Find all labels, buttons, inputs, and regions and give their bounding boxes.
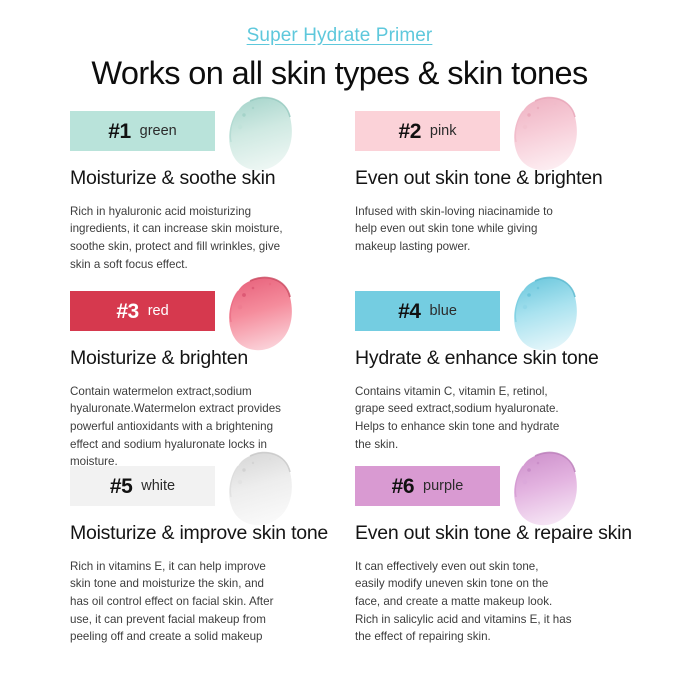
cream-smear-icon-2 <box>505 93 583 175</box>
swatch-row-2: #2 pink <box>355 111 570 153</box>
shade-name-1: green <box>140 124 177 139</box>
swatch-row-4: #4 blue <box>355 291 570 333</box>
shade-number-5: #5 <box>110 476 132 497</box>
shade-name-6: purple <box>423 479 463 494</box>
card-title-6: Even out skin tone & repaire skin <box>355 522 640 544</box>
swatch-row-1: #1 green <box>70 111 285 153</box>
shade-card-1: #1 green <box>70 111 355 291</box>
page-header: Super Hydrate Primer Works on all skin t… <box>0 0 679 91</box>
shade-label-bar-3: #3 red <box>70 291 215 331</box>
card-title-2: Even out skin tone & brighten <box>355 167 640 189</box>
shade-name-3: red <box>148 304 169 319</box>
card-body-1: Rich in hyaluronic acid moisturizing ing… <box>70 203 320 273</box>
shade-label-bar-4: #4 blue <box>355 291 500 331</box>
shade-grid: #1 green <box>0 111 679 646</box>
shade-card-5: #5 white <box>70 466 355 646</box>
card-title-5: Moisturize & improve skin tone <box>70 522 355 544</box>
shade-number-1: #1 <box>108 121 130 142</box>
page-title: Works on all skin types & skin tones <box>0 55 679 91</box>
card-title-1: Moisturize & soothe skin <box>70 167 355 189</box>
swatch-row-3: #3 red <box>70 291 285 333</box>
shade-number-2: #2 <box>399 121 421 142</box>
card-body-5: Rich in vitamins E, it can help improve … <box>70 558 320 646</box>
card-body-6: It can effectively even out skin tone, e… <box>355 558 605 646</box>
shade-name-5: white <box>141 479 175 494</box>
shade-number-4: #4 <box>398 301 420 322</box>
card-title-4: Hydrate & enhance skin tone <box>355 347 640 369</box>
shade-name-2: pink <box>430 124 457 139</box>
infographic-page: Super Hydrate Primer Works on all skin t… <box>0 0 679 679</box>
shade-card-6: #6 purple <box>355 466 640 646</box>
shade-label-bar-1: #1 green <box>70 111 215 151</box>
shade-label-bar-6: #6 purple <box>355 466 500 506</box>
shade-name-4: blue <box>429 304 456 319</box>
shade-card-2: #2 pink <box>355 111 640 291</box>
card-body-4: Contains vitamin C, vitamin E, retinol, … <box>355 383 605 453</box>
card-body-3: Contain watermelon extract,sodium hyalur… <box>70 383 320 471</box>
cream-smear-icon-1 <box>220 93 298 175</box>
swatch-row-6: #6 purple <box>355 466 570 508</box>
shade-card-4: #4 blue <box>355 291 640 466</box>
shade-label-bar-2: #2 pink <box>355 111 500 151</box>
brand-title: Super Hydrate Primer <box>0 26 679 47</box>
shade-card-3: #3 red <box>70 291 355 466</box>
swatch-row-5: #5 white <box>70 466 285 508</box>
shade-number-3: #3 <box>116 301 138 322</box>
shade-label-bar-5: #5 white <box>70 466 215 506</box>
card-body-2: Infused with skin-loving niacinamide to … <box>355 203 605 256</box>
card-title-3: Moisturize & brighten <box>70 347 355 369</box>
shade-number-6: #6 <box>392 476 414 497</box>
